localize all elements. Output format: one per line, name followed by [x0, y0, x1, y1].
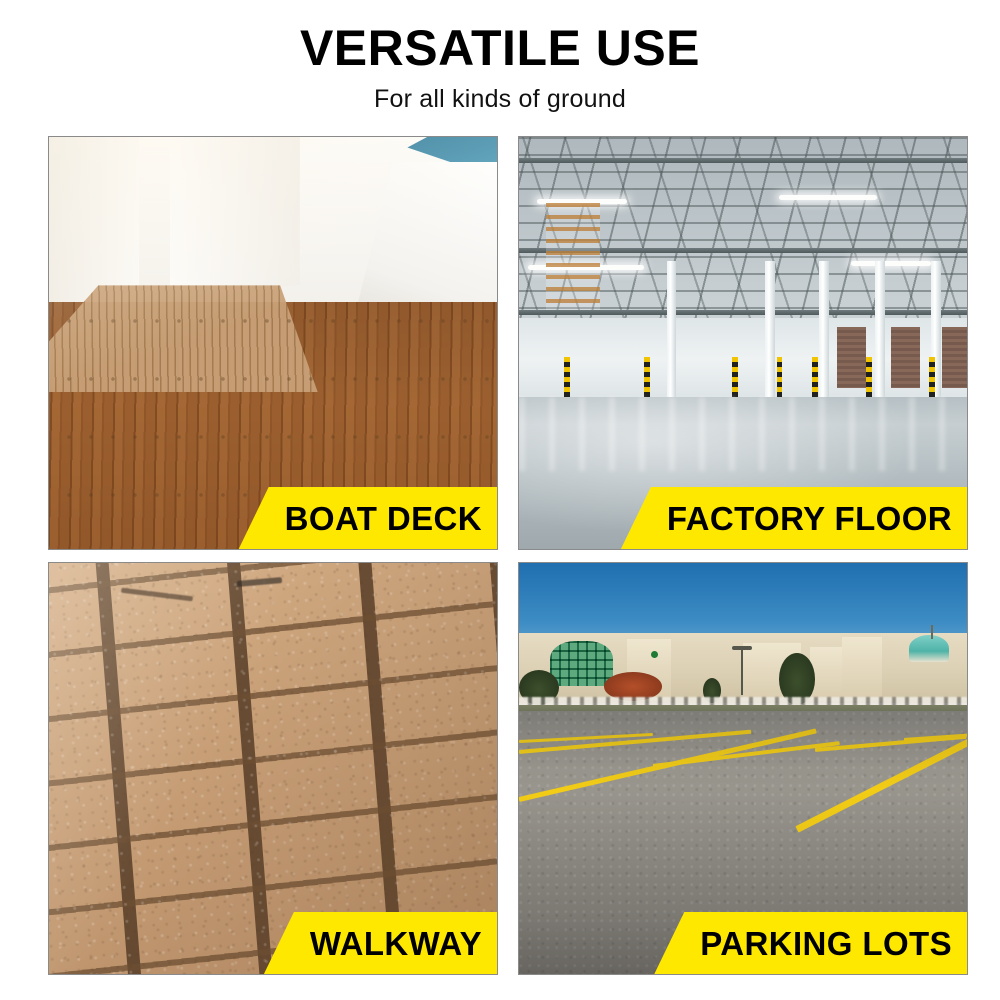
pallet-rack [546, 203, 600, 310]
mall-block-4 [842, 637, 882, 701]
use-case-tile-boat-deck[interactable]: BOAT DECK [48, 136, 498, 550]
tile-label-banner-boat-deck: BOAT DECK [239, 487, 498, 549]
use-case-grid: BOAT DECK [48, 136, 968, 975]
use-case-tile-walkway[interactable]: WALKWAY [48, 562, 498, 975]
roof-beam-upper [519, 158, 967, 163]
cabin-wall-center [170, 137, 300, 298]
page-title: VERSATILE USE [0, 22, 1000, 75]
use-case-tile-parking-lots[interactable]: PARKING LOTS [518, 562, 968, 975]
ceiling-light-3 [779, 195, 878, 200]
loading-dock-door-1 [837, 327, 866, 389]
light-pole [741, 649, 743, 694]
loading-dock-door-2 [891, 327, 920, 389]
tile-label-banner-parking-lots: PARKING LOTS [654, 912, 968, 974]
tile-label-text: FACTORY FLOOR [667, 502, 952, 535]
safety-bollard-7 [929, 357, 935, 398]
use-case-tile-factory-floor[interactable]: FACTORY FLOOR [518, 136, 968, 550]
tile-label-banner-walkway: WALKWAY [264, 912, 498, 974]
safety-bollard-2 [644, 357, 650, 398]
roof-beam-lower [519, 310, 967, 315]
tile-label-text: BOAT DECK [285, 502, 482, 535]
teal-dome [909, 635, 949, 662]
support-column-3 [819, 261, 828, 401]
safety-bollard-4 [777, 357, 783, 398]
support-column-2 [765, 261, 774, 401]
safety-bollard-5 [812, 357, 818, 398]
safety-bollard-6 [866, 357, 872, 398]
tile-label-text: WALKWAY [310, 927, 482, 960]
ceiling-light-4 [851, 261, 932, 266]
tile-label-text: PARKING LOTS [700, 927, 952, 960]
support-column-1 [667, 261, 676, 401]
dome-spire [931, 625, 933, 639]
tile-label-banner-factory-floor: FACTORY FLOOR [621, 487, 968, 549]
mall-block-3 [810, 647, 841, 700]
page-subtitle: For all kinds of ground [0, 85, 1000, 114]
support-column-4 [875, 261, 884, 401]
loading-dock-door-3 [942, 327, 967, 389]
safety-bollard-3 [732, 357, 738, 398]
safety-bollard-1 [564, 357, 570, 398]
glass-atrium [550, 641, 613, 686]
header: VERSATILE USE For all kinds of ground [0, 0, 1000, 114]
